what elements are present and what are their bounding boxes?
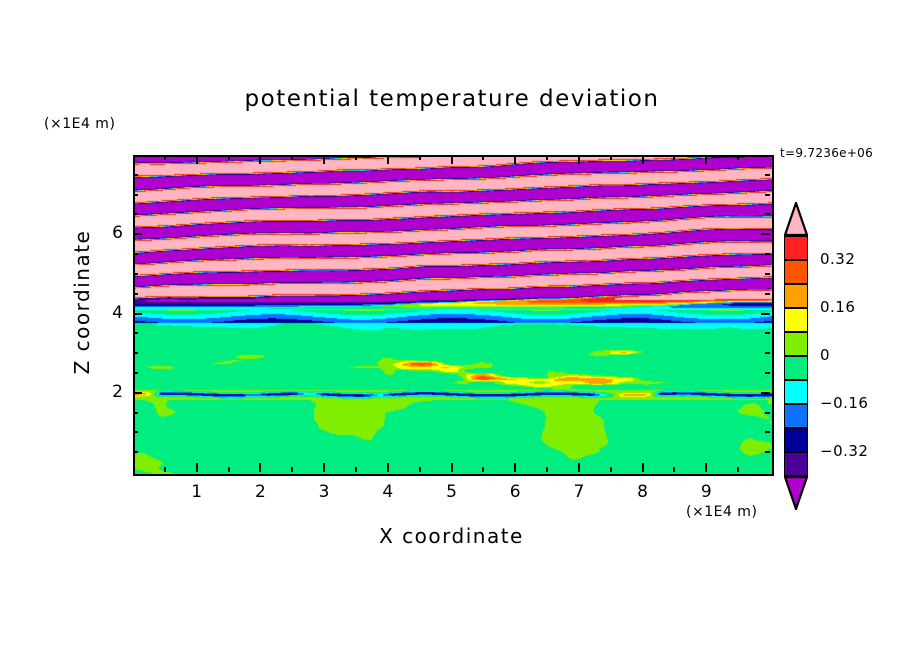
x-tick-major-top	[578, 155, 580, 164]
x-tick-minor	[419, 467, 421, 472]
colorbar-tick-label: 0.32	[820, 250, 855, 268]
x-tick-major	[642, 463, 644, 472]
colorbar-band	[784, 404, 808, 428]
colorbar-tick-label: 0	[820, 346, 830, 364]
y-tick-minor-right	[765, 372, 770, 374]
x-tick-major	[514, 463, 516, 472]
y-tick-major	[133, 233, 142, 235]
colorbar-band	[784, 452, 808, 476]
x-tick-minor	[228, 467, 230, 472]
y-tick-minor	[133, 431, 138, 433]
x-tick-minor-top	[737, 155, 739, 160]
x-tick-minor-top	[164, 155, 166, 160]
y-tick-minor-right	[765, 332, 770, 334]
x-tick-major	[323, 463, 325, 472]
y-tick-minor-right	[765, 352, 770, 354]
x-tick-minor	[546, 467, 548, 472]
x-tick-label: 3	[309, 482, 339, 502]
colorbar-band	[784, 428, 808, 452]
x-tick-label: 5	[437, 482, 467, 502]
y-tick-major	[133, 392, 142, 394]
x-axis-unit-label: (×1E4 m)	[686, 504, 757, 520]
x-tick-major	[578, 463, 580, 472]
x-tick-minor-top	[546, 155, 548, 160]
x-tick-major-top	[196, 155, 198, 164]
y-axis-unit-label: (×1E4 m)	[44, 116, 115, 132]
y-tick-minor	[133, 451, 138, 453]
x-tick-label: 7	[564, 482, 594, 502]
colorbar-tick-label: −0.32	[820, 442, 868, 460]
colorbar-band	[784, 380, 808, 404]
x-axis-title: X coordinate	[133, 524, 770, 548]
y-tick-minor	[133, 253, 138, 255]
colorbar-over-arrow	[784, 202, 808, 236]
y-tick-minor	[133, 213, 138, 215]
y-tick-minor	[133, 273, 138, 275]
x-tick-major	[387, 463, 389, 472]
x-tick-major-top	[514, 155, 516, 164]
colorbar-tick-label: 0.16	[820, 298, 855, 316]
x-tick-major-top	[705, 155, 707, 164]
x-tick-major-top	[642, 155, 644, 164]
x-tick-label: 2	[245, 482, 275, 502]
y-tick-minor-right	[765, 174, 770, 176]
y-tick-major	[133, 313, 142, 315]
y-tick-label: 6	[93, 223, 123, 243]
colorbar-band	[784, 356, 808, 380]
x-tick-major-top	[387, 155, 389, 164]
x-tick-minor	[737, 467, 739, 472]
x-tick-minor	[610, 467, 612, 472]
x-tick-minor-top	[228, 155, 230, 160]
y-tick-minor	[133, 372, 138, 374]
y-tick-major-right	[761, 392, 770, 394]
colorbar-under-arrow	[784, 476, 808, 510]
x-tick-label: 8	[628, 482, 658, 502]
y-tick-minor-right	[765, 293, 770, 295]
colorbar-band	[784, 284, 808, 308]
contour-plot-area	[133, 155, 774, 476]
y-tick-label: 4	[93, 303, 123, 323]
x-tick-minor	[355, 467, 357, 472]
y-tick-minor-right	[765, 273, 770, 275]
colorbar-band	[784, 332, 808, 356]
x-tick-minor	[291, 467, 293, 472]
x-tick-major	[196, 463, 198, 472]
chart-title: potential temperature deviation	[0, 86, 904, 112]
colorbar-band	[784, 260, 808, 284]
contour-field	[135, 157, 772, 474]
timestamp-annotation: t=9.7236e+06	[780, 146, 873, 160]
x-tick-major-top	[451, 155, 453, 164]
y-tick-minor	[133, 332, 138, 334]
colorbar-tick-label: −0.16	[820, 394, 868, 412]
y-tick-minor	[133, 412, 138, 414]
x-tick-minor-top	[355, 155, 357, 160]
x-tick-minor	[164, 467, 166, 472]
x-tick-label: 4	[373, 482, 403, 502]
y-tick-minor-right	[765, 412, 770, 414]
y-tick-minor-right	[765, 194, 770, 196]
y-tick-minor-right	[765, 213, 770, 215]
x-tick-minor-top	[673, 155, 675, 160]
y-tick-minor-right	[765, 253, 770, 255]
colorbar-band	[784, 236, 808, 260]
y-tick-minor-right	[765, 431, 770, 433]
y-tick-major-right	[761, 233, 770, 235]
x-tick-label: 9	[691, 482, 721, 502]
y-tick-minor	[133, 293, 138, 295]
y-tick-label: 2	[93, 382, 123, 402]
x-tick-minor-top	[291, 155, 293, 160]
y-tick-major-right	[761, 313, 770, 315]
x-tick-minor-top	[482, 155, 484, 160]
colorbar	[784, 236, 808, 476]
x-tick-major	[259, 463, 261, 472]
x-tick-major	[451, 463, 453, 472]
x-tick-minor-top	[419, 155, 421, 160]
x-tick-label: 1	[182, 482, 212, 502]
x-tick-label: 6	[500, 482, 530, 502]
y-axis-title: Z coordinate	[70, 202, 94, 402]
y-tick-minor	[133, 352, 138, 354]
colorbar-band	[784, 308, 808, 332]
x-tick-minor	[673, 467, 675, 472]
y-tick-minor-right	[765, 451, 770, 453]
x-tick-major-top	[323, 155, 325, 164]
x-tick-minor	[482, 467, 484, 472]
x-tick-major	[705, 463, 707, 472]
y-tick-minor	[133, 194, 138, 196]
x-tick-major-top	[259, 155, 261, 164]
x-tick-minor-top	[610, 155, 612, 160]
y-tick-minor	[133, 174, 138, 176]
